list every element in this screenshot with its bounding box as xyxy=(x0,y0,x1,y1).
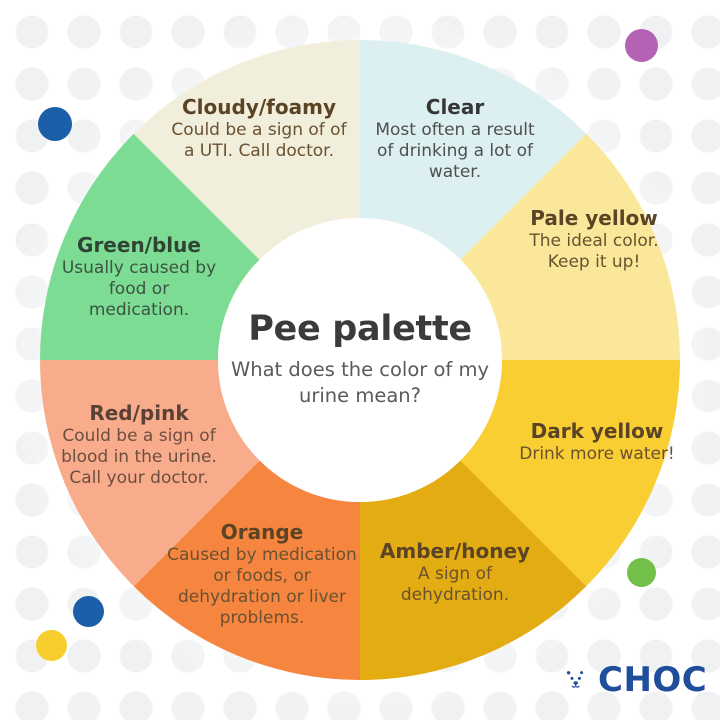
segment-desc-amber-honey: A sign of dehydration. xyxy=(362,564,548,605)
segment-label-clear: Clear Most often a result of drinking a … xyxy=(370,96,540,183)
page-subtitle: What does the color of my urine mean? xyxy=(218,357,502,408)
segment-label-cloudy-foamy: Cloudy/foamy Could be a sign of of a UTI… xyxy=(166,96,352,162)
segment-label-pale-yellow: Pale yellow The ideal color. Keep it up! xyxy=(524,207,664,273)
segment-label-red-pink: Red/pink Could be a sign of blood in the… xyxy=(56,402,222,489)
segment-title-red-pink: Red/pink xyxy=(56,402,222,424)
segment-title-dark-yellow: Dark yellow xyxy=(512,420,682,442)
segment-desc-red-pink: Could be a sign of blood in the urine. C… xyxy=(56,426,222,488)
segment-title-clear: Clear xyxy=(370,96,540,118)
segment-desc-pale-yellow: The ideal color. Keep it up! xyxy=(524,231,664,272)
segment-title-amber-honey: Amber/honey xyxy=(362,540,548,562)
segment-title-orange: Orange xyxy=(164,521,360,543)
choc-wordmark: CHOC xyxy=(598,663,707,697)
segment-title-pale-yellow: Pale yellow xyxy=(524,207,664,229)
bear-moon-logo-icon xyxy=(551,660,591,700)
segment-label-green-blue: Green/blue Usually caused by food or med… xyxy=(56,234,222,321)
segment-title-cloudy-foamy: Cloudy/foamy xyxy=(166,96,352,118)
segment-label-dark-yellow: Dark yellow Drink more water! xyxy=(512,420,682,465)
segment-title-green-blue: Green/blue xyxy=(56,234,222,256)
segment-desc-orange: Caused by medication or foods, or dehydr… xyxy=(164,545,360,628)
segment-desc-cloudy-foamy: Could be a sign of of a UTI. Call doctor… xyxy=(166,120,352,161)
page-title: Pee palette xyxy=(248,311,472,348)
infographic-canvas: Pee palette What does the color of my ur… xyxy=(0,0,720,720)
choc-logo: CHOC xyxy=(551,660,707,700)
segment-desc-clear: Most often a result of drinking a lot of… xyxy=(370,120,540,182)
segment-desc-green-blue: Usually caused by food or medication. xyxy=(56,258,222,320)
segment-label-orange: Orange Caused by medication or foods, or… xyxy=(164,521,360,628)
donut-center-hub: Pee palette What does the color of my ur… xyxy=(218,218,502,502)
segment-desc-dark-yellow: Drink more water! xyxy=(512,444,682,465)
segment-label-amber-honey: Amber/honey A sign of dehydration. xyxy=(362,540,548,606)
